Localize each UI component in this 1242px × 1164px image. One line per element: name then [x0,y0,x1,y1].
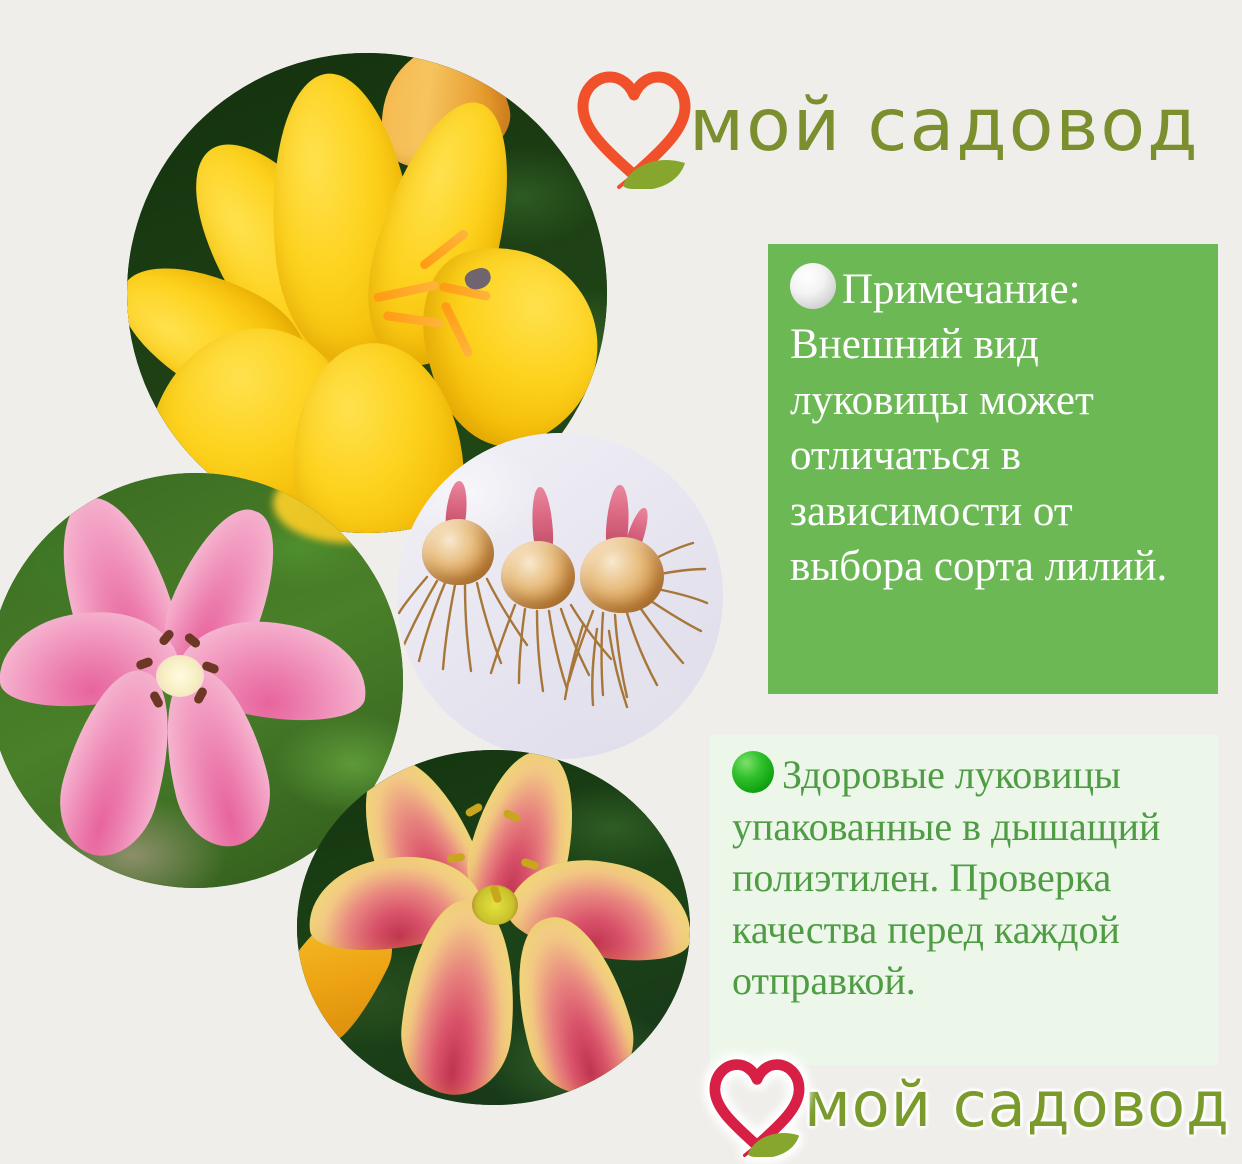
note-panel-secondary: Здоровые луковицы упакованные в дышащий … [710,735,1218,1065]
brand-logo-top-text: мой садовод [689,89,1200,162]
brand-logo-watermark-text: мой садовод [804,1074,1230,1136]
photo-red-yellow-lily [297,750,690,1105]
heart-leaf-icon [708,1053,806,1157]
brand-logo-watermark: мой садовод [708,1050,1228,1160]
photo-lily-bulbs [397,433,723,759]
note-panel-primary: Примечание: Внешний вид луковицы может о… [768,244,1218,694]
note-primary-body: Внешний вид луковицы может отличаться в … [790,321,1167,590]
brand-logo-top[interactable]: мой садовод [575,58,1220,193]
lily-bulb [580,537,664,613]
note-primary-text: Примечание: Внешний вид луковицы может о… [790,262,1198,595]
promo-banner: мой садовод Примечание: Внешний вид луко… [0,0,1242,1164]
lily-bulb [422,519,494,585]
note-secondary-body: Здоровые луковицы упакованные в дышащий … [732,752,1160,1003]
lily-bulb [501,541,575,609]
heart-leaf-icon [575,63,693,189]
note-primary-heading: Примечание: [842,266,1081,313]
green-circle-bullet-icon [732,751,774,793]
note-secondary-text: Здоровые луковицы упакованные в дышащий … [732,749,1202,1007]
grey-circle-bullet-icon [790,263,836,309]
